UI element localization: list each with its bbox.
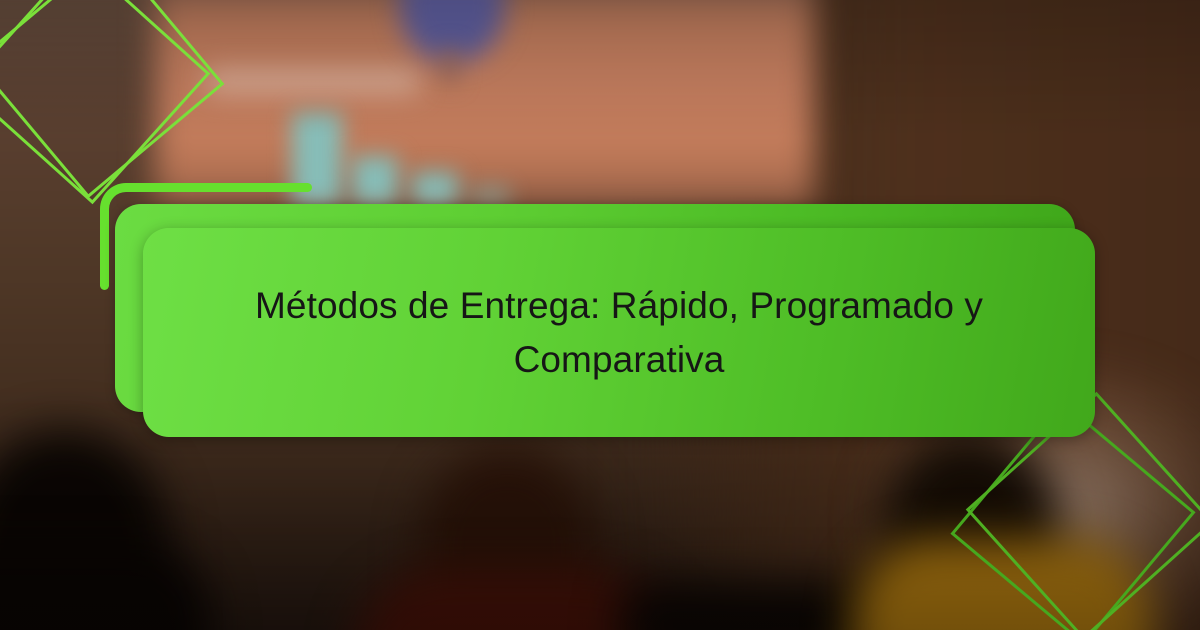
title-card: Métodos de Entrega: Rápido, Programado y…: [143, 228, 1095, 437]
page-title: Métodos de Entrega: Rápido, Programado y…: [215, 279, 1023, 386]
social-card-stage: Métodos de Entrega: Rápido, Programado y…: [0, 0, 1200, 630]
